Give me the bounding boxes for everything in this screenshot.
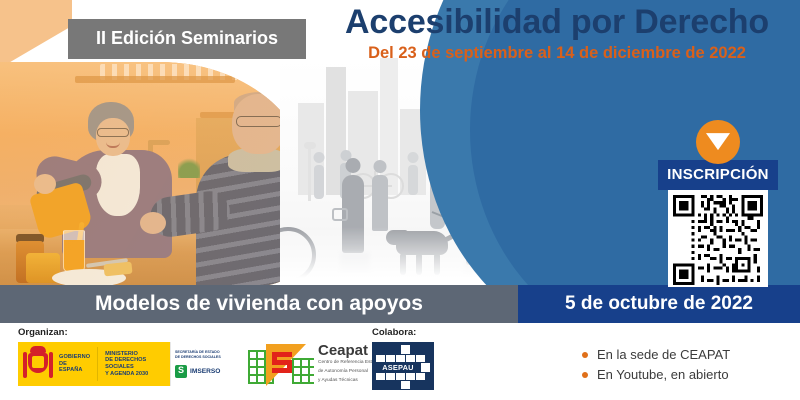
imserso-logo: SECRETARÍA DE ESTADO DE DERECHOS SOCIALE…: [170, 342, 232, 386]
ceapat-mark-icon: [248, 342, 314, 386]
juice-glass: [63, 230, 85, 272]
bullet-dot-icon: [582, 352, 588, 358]
ceapat-sub2: de Autonomía Personal: [318, 369, 380, 376]
ceapat-name: Ceapat: [318, 343, 380, 358]
list-item: En la sede de CEAPAT: [582, 345, 797, 365]
asepau-grid-icon: ASEPAU: [375, 345, 431, 387]
page-title: Accesibilidad por Derecho: [322, 4, 792, 41]
woman-hand: [34, 174, 56, 194]
gobierno-line1: GOBIERNO: [59, 354, 90, 361]
asepau-name: ASEPAU: [376, 363, 420, 373]
session-date-container: 5 de octubre de 2022: [518, 285, 800, 323]
ministerio-line2: DE DERECHOS SOCIALES: [105, 357, 170, 370]
footer-area: Organizan: Colabora: GOBIERNO DE ESPAÑA …: [0, 323, 800, 400]
inscription-label: INSCRIPCIÓN: [658, 160, 778, 190]
street-lamp: [308, 145, 311, 201]
date-range-subtitle: Del 23 de septiembre al 14 de diciembre …: [322, 44, 792, 63]
list-item-label: En Youtube, en abierto: [597, 365, 729, 385]
plant: [178, 152, 200, 178]
qr-code-container[interactable]: [668, 190, 768, 287]
pedestrian-walking: [372, 175, 388, 231]
man-hand: [140, 212, 166, 234]
peach-corner-decoration: [0, 0, 72, 68]
session-date: 5 de octubre de 2022: [565, 293, 753, 315]
poster-root: INSCRIPCIÓN: [0, 0, 800, 400]
ministerio-line1: MINISTERIO: [105, 351, 170, 358]
list-item-label: En la sede de CEAPAT: [597, 345, 730, 365]
ceapat-logo: Ceapat Centro de Referencia Estatal de A…: [248, 342, 380, 386]
man-glasses: [236, 116, 282, 127]
inscription-block[interactable]: INSCRIPCIÓN: [658, 160, 778, 287]
imserso-name: IMSERSO: [190, 368, 220, 375]
pedestrian: [408, 165, 418, 195]
organizers-label: Organizan:: [18, 327, 68, 338]
logo-divider: [97, 347, 98, 381]
woman-glasses: [97, 128, 129, 137]
imserso-mark-icon: [175, 365, 187, 378]
shelf: [75, 76, 235, 83]
banner-area: INSCRIPCIÓN: [0, 0, 800, 287]
gobierno-text: GOBIERNO DE ESPAÑA: [59, 354, 90, 374]
coat-of-arms-icon: [23, 346, 53, 382]
title-block: Accesibilidad por Derecho Del 23 de sept…: [322, 4, 792, 63]
edition-badge: II Edición Seminarios: [68, 19, 306, 59]
arrow-down-badge: [696, 120, 740, 164]
handbag: [332, 208, 348, 221]
ministerio-line3: Y AGENDA 2030: [105, 371, 170, 378]
list-item: En Youtube, en abierto: [582, 365, 797, 385]
breakfast-photo: [0, 62, 310, 287]
woman-face: [96, 118, 130, 156]
pedestrian: [314, 165, 324, 199]
venue-bullet-list: En la sede de CEAPAT En Youtube, en abie…: [582, 345, 797, 385]
secretaria-line2: DE DERECHOS SOCIALES: [175, 355, 228, 360]
gobierno-de-espana-logo: GOBIERNO DE ESPAÑA MINISTERIO DE DERECHO…: [18, 342, 170, 386]
session-bar: Modelos de vivienda con apoyos 5 de octu…: [0, 285, 800, 323]
session-title: Modelos de vivienda con apoyos: [95, 292, 423, 316]
ceapat-sub1: Centro de Referencia Estatal: [318, 360, 380, 367]
bullet-dot-icon: [582, 372, 588, 378]
gobierno-line2: DE ESPAÑA: [59, 361, 90, 374]
woman-collar: [96, 154, 140, 216]
ministerio-text: MINISTERIO DE DERECHOS SOCIALES Y AGENDA…: [105, 351, 170, 378]
street-lamp: [304, 142, 316, 149]
triangle-down-icon: [706, 133, 730, 150]
session-title-container: Modelos de vivienda con apoyos: [0, 285, 518, 323]
ceapat-sub3: y Ayudas Técnicas: [318, 378, 380, 385]
asepau-logo: ASEPAU: [372, 342, 434, 390]
qr-code-icon[interactable]: [673, 195, 763, 285]
collaborators-label: Colabora:: [372, 327, 416, 338]
organizer-logos: GOBIERNO DE ESPAÑA MINISTERIO DE DERECHO…: [18, 342, 380, 386]
ceapat-text: Ceapat Centro de Referencia Estatal de A…: [318, 343, 380, 385]
